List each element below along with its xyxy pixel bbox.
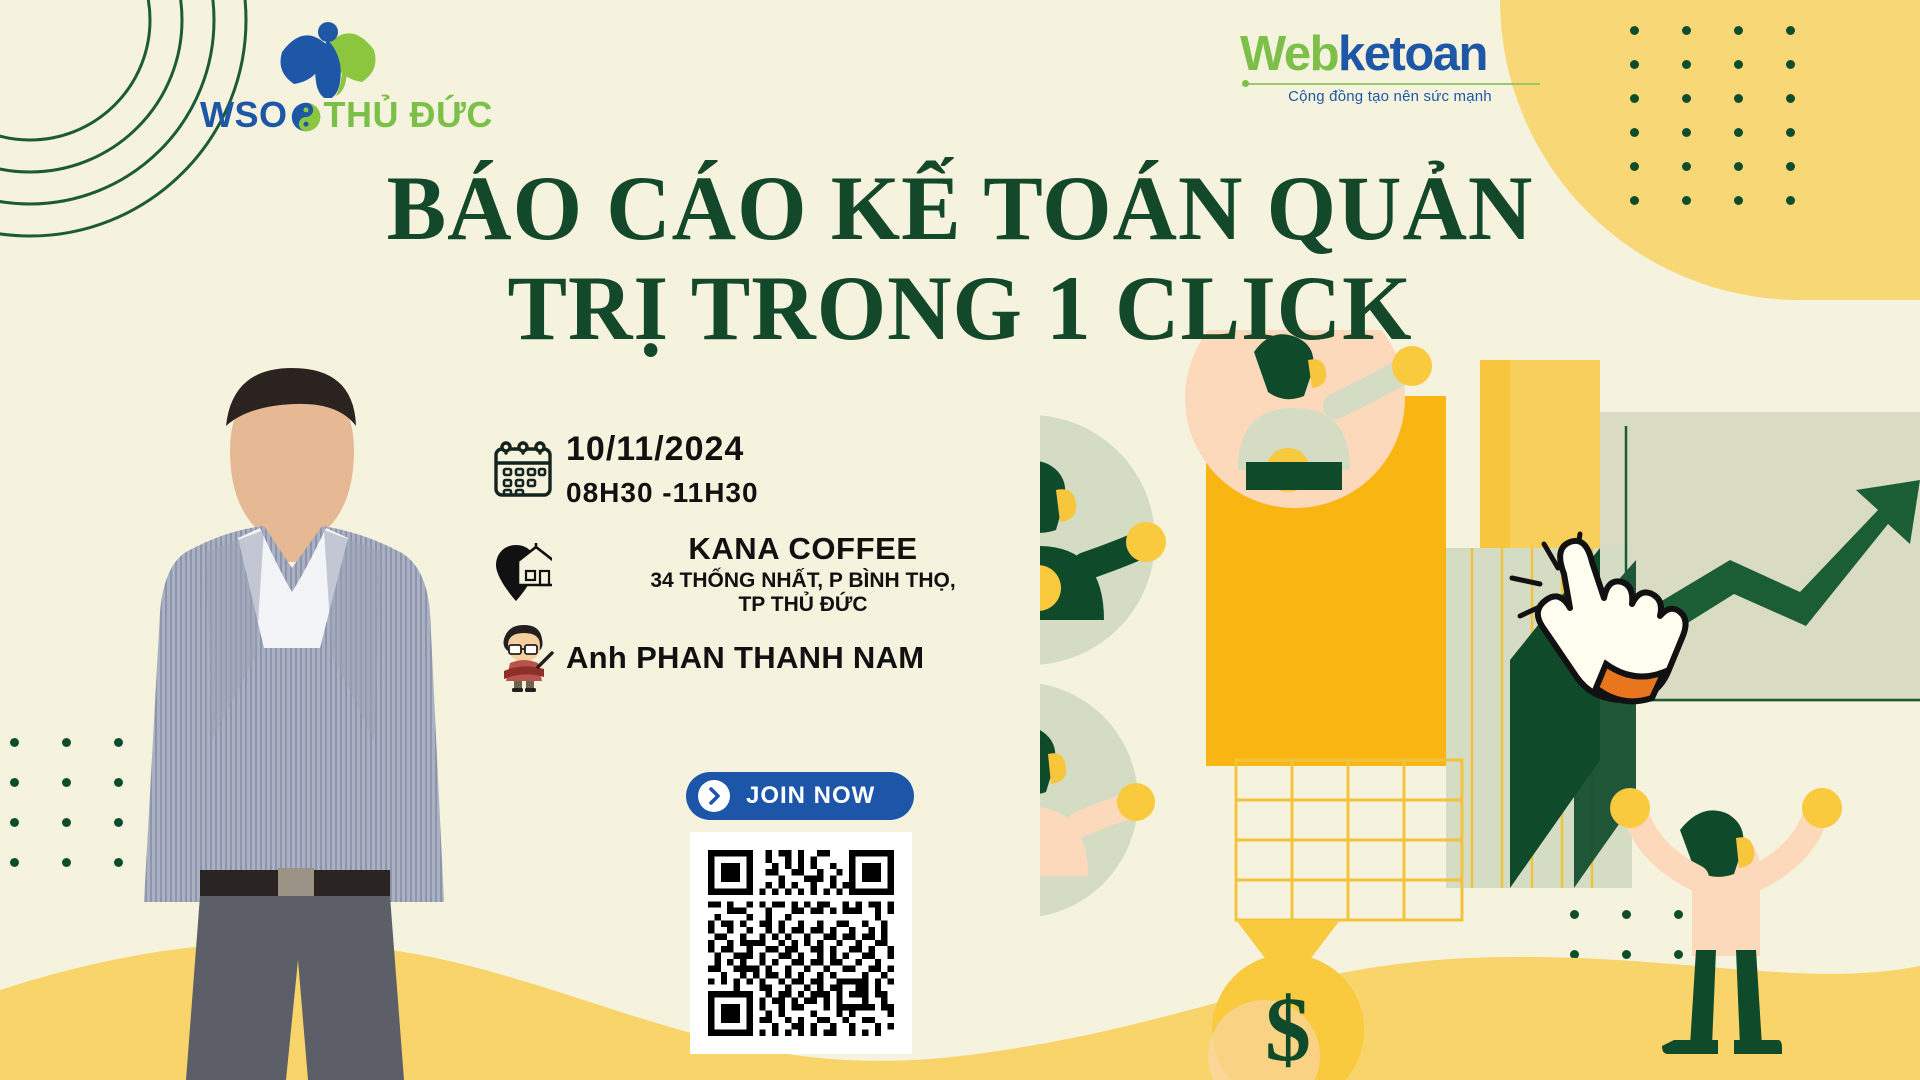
event-datetime-row: 10/11/2024 08H30 -11H30 [480, 430, 1040, 509]
presenter-person-icon [480, 623, 566, 693]
logo-underline [1248, 83, 1540, 85]
svg-text:$: $ [1265, 978, 1311, 1080]
qr-code-card[interactable] [690, 832, 912, 1054]
page-title: BÁO CÁO KẾ TOÁN QUẢN TRỊ TRONG 1 CLICK [29, 160, 1891, 357]
banner-canvas: $ [0, 0, 1920, 1080]
event-speaker-row: Anh PHAN THANH NAM [480, 623, 1040, 693]
logo-webketoan-green: Web [1240, 27, 1338, 81]
calendar-icon [480, 439, 566, 501]
event-speaker-text: Anh PHAN THANH NAM [566, 640, 1040, 676]
event-datetime-text: 10/11/2024 08H30 -11H30 [566, 430, 1040, 509]
logo-wso-suffix: THỦ ĐỨC [324, 94, 493, 135]
venue-name: KANA COFFEE [566, 531, 1040, 567]
venue-address-line-1: 34 THỐNG NHẤT, P BÌNH THỌ, [566, 569, 1040, 593]
logo-wso-thu-duc[interactable]: WSOTHỦ ĐỨC [200, 22, 500, 132]
join-now-label: JOIN NOW [746, 782, 875, 810]
logo-webketoan-wordmark: Webketoan [1240, 30, 1540, 79]
event-venue-text: KANA COFFEE 34 THỐNG NHẤT, P BÌNH THỌ, T… [566, 531, 1040, 617]
logo-wso-wordmark: WSOTHỦ ĐỨC [200, 94, 500, 136]
event-time: 08H30 -11H30 [566, 477, 1040, 509]
logo-webketoan-blue: ketoan [1338, 27, 1487, 81]
event-date: 10/11/2024 [566, 430, 1040, 469]
logo-wso-prefix: WSO [200, 94, 288, 135]
event-venue-row: KANA COFFEE 34 THỐNG NHẤT, P BÌNH THỌ, T… [480, 531, 1040, 617]
qr-code [708, 850, 894, 1036]
yin-yang-icon [291, 102, 321, 132]
speaker-photo [60, 330, 460, 1080]
title-line-2: TRỊ TRONG 1 CLICK [29, 260, 1891, 358]
leaf-person-icon [278, 22, 378, 98]
business-growth-illustration: $ [1040, 330, 1920, 1080]
title-line-1: BÁO CÁO KẾ TOÁN QUẢN [29, 160, 1891, 258]
chevron-right-circle-icon [698, 780, 730, 812]
location-pin-house-icon [480, 543, 566, 605]
join-now-button[interactable]: JOIN NOW [686, 772, 914, 820]
event-details: 10/11/2024 08H30 -11H30 KANA COFFEE 34 T… [480, 430, 1040, 699]
logo-tagline: Cộng đồng tạo nên sức mạnh [1240, 88, 1540, 105]
venue-address-line-2: TP THỦ ĐỨC [566, 593, 1040, 617]
logo-webketoan[interactable]: Webketoan Cộng đồng tạo nên sức mạnh [1240, 30, 1540, 126]
speaker-name: Anh PHAN THANH NAM [566, 640, 1040, 676]
